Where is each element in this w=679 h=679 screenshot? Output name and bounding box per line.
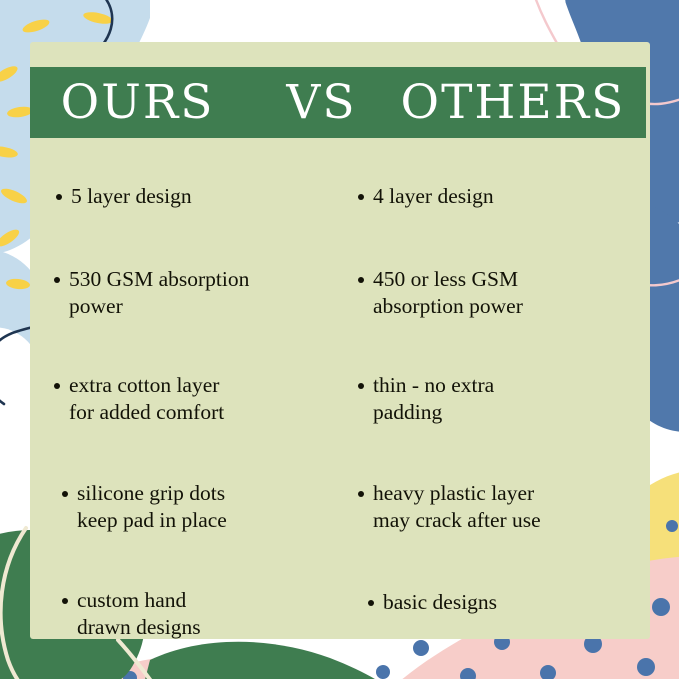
- list-item-text: 5 layer design: [71, 183, 332, 210]
- column-others: 4 layer design 450 or less GSM absorptio…: [340, 145, 650, 639]
- bullet-dot-icon: [54, 383, 60, 389]
- list-item-others-4: heavy plastic layer may crack after use: [358, 480, 642, 534]
- list-item-others-5: basic designs: [368, 589, 642, 616]
- list-item-others-3: thin - no extra padding: [358, 372, 642, 426]
- list-item-text: silicone grip dots keep pad in place: [77, 480, 332, 534]
- title-vs: VS: [286, 79, 356, 126]
- list-item-text: custom hand drawn designs: [77, 587, 332, 639]
- bullet-dot-icon: [358, 383, 364, 389]
- list-item-text: extra cotton layer for added comfort: [69, 372, 332, 426]
- list-item-ours-4: silicone grip dots keep pad in place: [62, 480, 332, 534]
- list-item-others-1: 4 layer design: [358, 183, 642, 210]
- title-others: OTHERS: [401, 79, 626, 126]
- bullet-dot-icon: [358, 491, 364, 497]
- comparison-poster: OURS VS OTHERS 5 layer design 530 GSM ab…: [0, 0, 679, 679]
- bullet-dot-icon: [54, 277, 60, 283]
- list-item-text: 450 or less GSM absorption power: [373, 266, 642, 320]
- list-item-text: basic designs: [383, 589, 642, 616]
- bullet-dot-icon: [62, 491, 68, 497]
- bullet-dot-icon: [358, 194, 364, 200]
- bullet-dot-icon: [368, 600, 374, 606]
- column-ours: 5 layer design 530 GSM absorption power …: [30, 145, 340, 639]
- list-item-others-2: 450 or less GSM absorption power: [358, 266, 642, 320]
- bottom-left-green-blob-2: [140, 642, 404, 679]
- bullet-dot-icon: [358, 277, 364, 283]
- list-item-text: 530 GSM absorption power: [69, 266, 332, 320]
- bullet-dot-icon: [56, 194, 62, 200]
- list-item-ours-1: 5 layer design: [56, 183, 332, 210]
- list-item-ours-3: extra cotton layer for added comfort: [54, 372, 332, 426]
- list-item-text: thin - no extra padding: [373, 372, 642, 426]
- list-item-ours-5: custom hand drawn designs: [62, 587, 332, 639]
- bullet-dot-icon: [62, 598, 68, 604]
- bottom-center-pink-extension: [50, 655, 390, 679]
- title-bar: OURS VS OTHERS: [30, 67, 646, 138]
- list-item-text: 4 layer design: [373, 183, 642, 210]
- list-item-text: heavy plastic layer may crack after use: [373, 480, 642, 534]
- cream-curve-line-2: [118, 640, 164, 679]
- list-item-ours-2: 530 GSM absorption power: [54, 266, 332, 320]
- comparison-card: OURS VS OTHERS 5 layer design 530 GSM ab…: [30, 42, 650, 639]
- comparison-columns: 5 layer design 530 GSM absorption power …: [30, 145, 650, 639]
- title-ours: OURS: [61, 79, 215, 126]
